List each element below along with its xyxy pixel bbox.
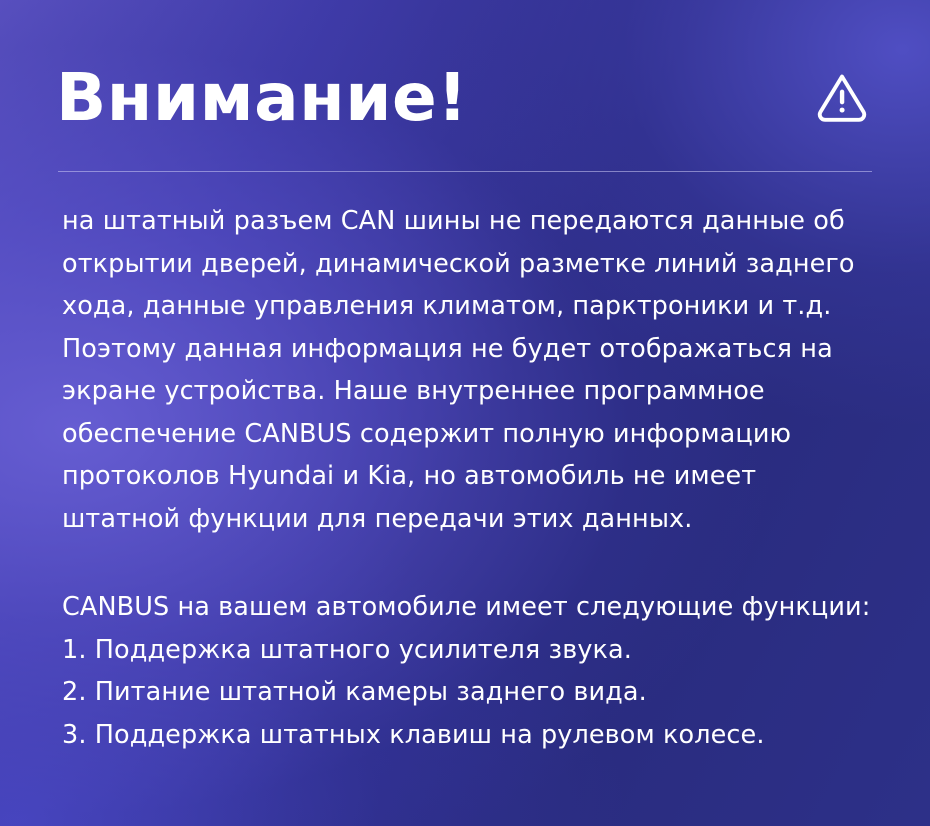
intro-paragraph: на штатный разъем CAN шины не передаются…: [62, 200, 880, 540]
functions-heading: CANBUS на вашем автомобиле имеет следующ…: [62, 586, 880, 629]
list-item: 3. Поддержка штатных клавиш на рулевом к…: [62, 714, 880, 757]
banner-header: Внимание!: [56, 52, 874, 144]
functions-block: CANBUS на вашем автомобиле имеет следующ…: [62, 586, 880, 756]
banner-content: на штатный разъем CAN шины не передаются…: [62, 200, 880, 756]
header-divider: [58, 171, 872, 172]
list-item: 1. Поддержка штатного усилителя звука.: [62, 629, 880, 672]
warning-banner: Внимание! на штатный разъем CAN шины не …: [0, 0, 930, 826]
page-title: Внимание!: [56, 65, 468, 131]
list-item: 2. Питание штатной камеры заднего вида.: [62, 671, 880, 714]
warning-triangle-icon: [815, 71, 869, 125]
